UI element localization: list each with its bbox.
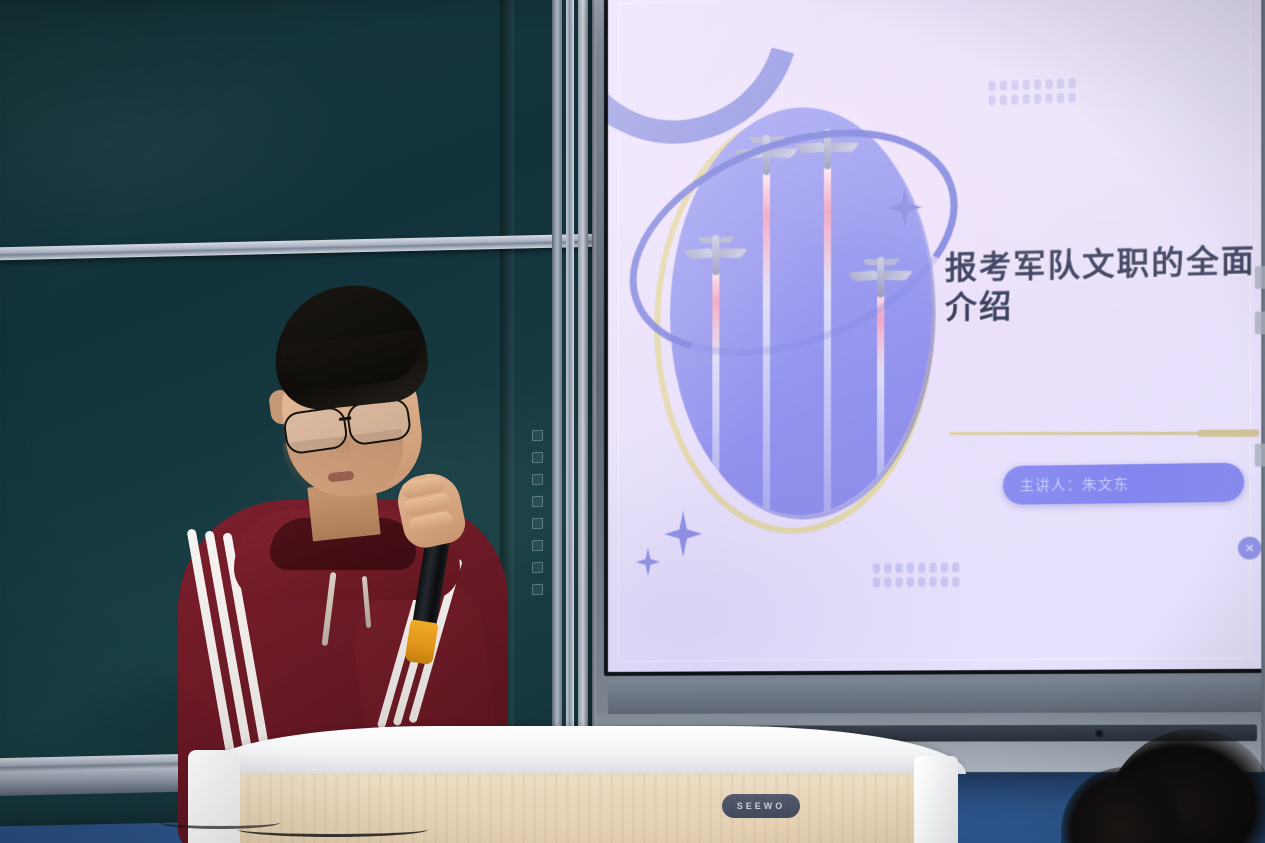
screen-side-panel [1261, 0, 1265, 772]
screen-frame-bar [552, 0, 562, 843]
screen-side-button[interactable] [1255, 266, 1265, 289]
slide-corner-badge-icon[interactable]: ✕ [1238, 537, 1261, 560]
lectern-right-edge [914, 756, 958, 843]
lectern-left-edge [188, 750, 240, 843]
slide-title: 报考军队文职的全面介绍 [945, 241, 1261, 328]
screen-lower-bezel [608, 677, 1261, 714]
lectern-top-surface [196, 726, 966, 774]
presentation-slide: 报考军队文职的全面介绍 主讲人：朱文东 ✕ [608, 0, 1261, 672]
dot-grid-bottom [873, 562, 959, 587]
interactive-whiteboard[interactable]: 报考军队文职的全面介绍 主讲人：朱文东 ✕ [596, 0, 1265, 772]
vapor-trail [877, 283, 884, 517]
lectern-brand-logo: SEEWO [722, 794, 800, 818]
screen-side-button[interactable] [1255, 311, 1265, 334]
presenter-name-pill: 主讲人：朱文东 [1003, 463, 1244, 505]
screen-frame-bar [578, 0, 588, 843]
presenter-name-label: 主讲人：朱文东 [1019, 473, 1129, 495]
screen-ir-sensor-icon [1096, 730, 1103, 737]
dot-grid-top [988, 78, 1075, 105]
screen-side-button[interactable] [1255, 444, 1265, 467]
screenshot-root: 报考军队文职的全面介绍 主讲人：朱文东 ✕ [0, 0, 1265, 843]
screen-frame-bar [566, 0, 574, 843]
screen-display-area[interactable]: 报考军队文职的全面介绍 主讲人：朱文东 ✕ [608, 0, 1261, 672]
gold-divider [949, 432, 1253, 435]
floor-cable [160, 816, 280, 829]
